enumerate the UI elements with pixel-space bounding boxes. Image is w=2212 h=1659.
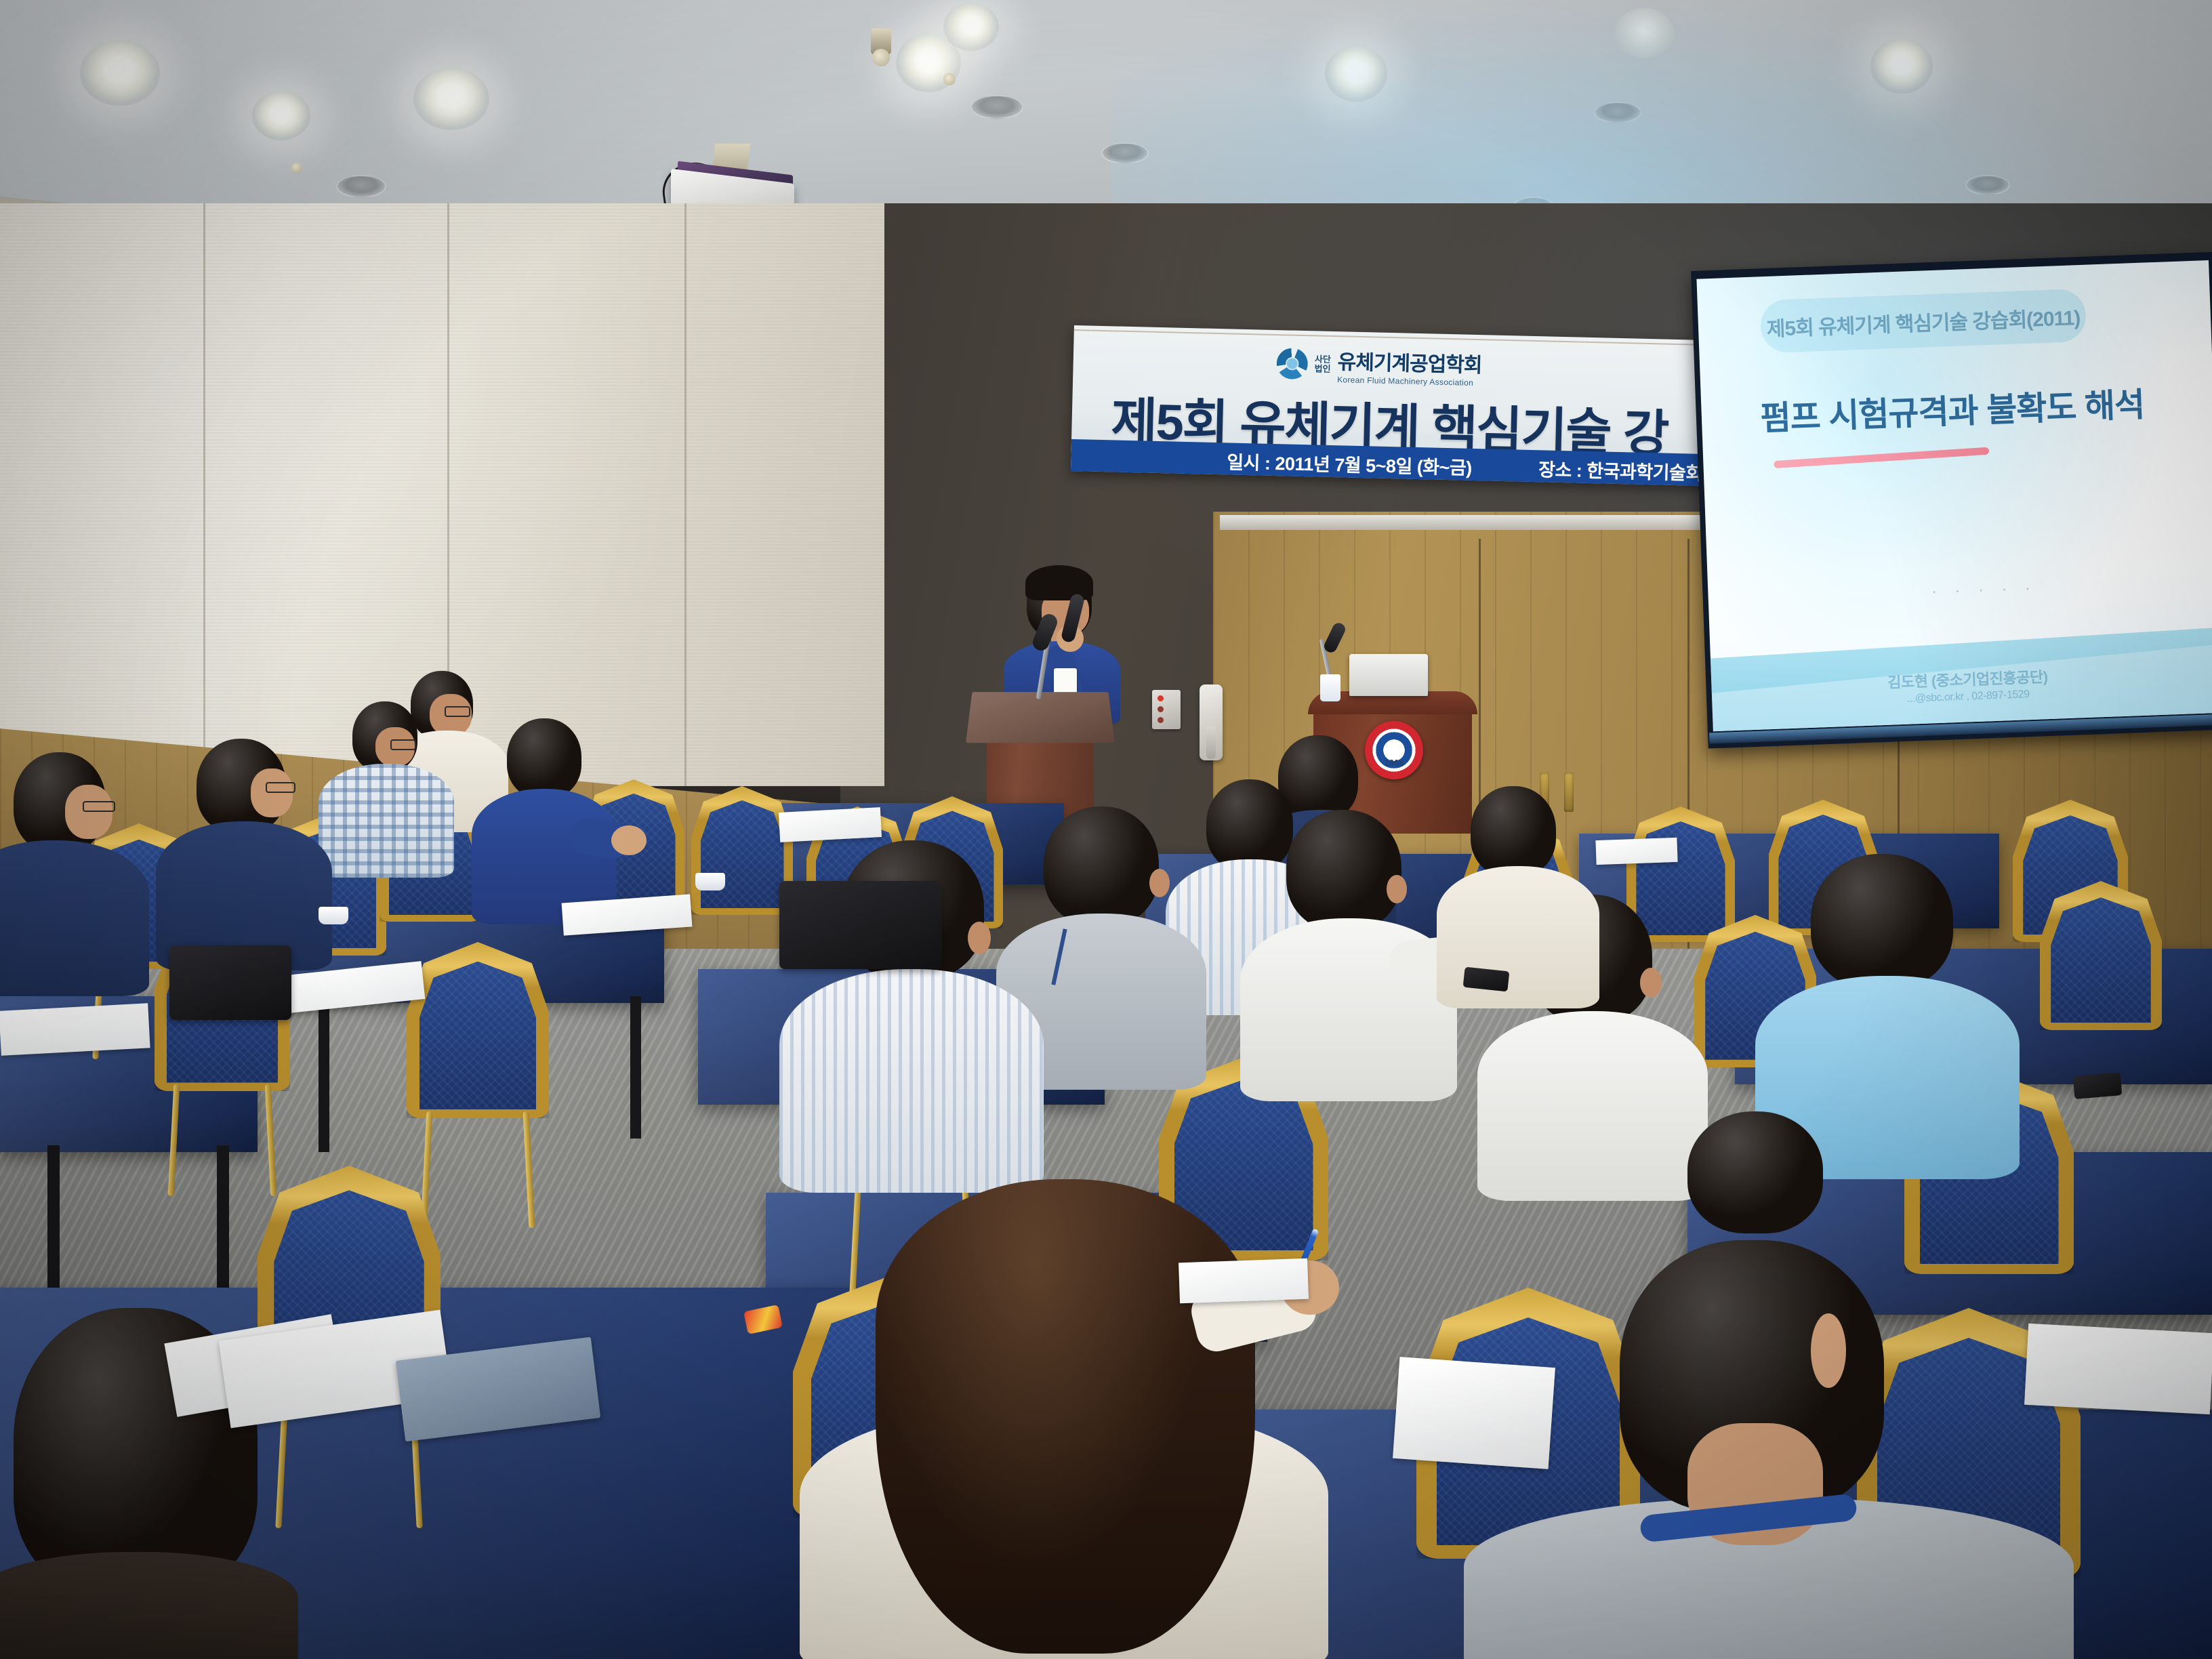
attendee-ear [1149, 869, 1170, 897]
sprinkler-head [291, 163, 302, 173]
slide-dots-text: . . . . . [1931, 573, 2037, 598]
paper-cup [1320, 674, 1340, 701]
attendee-ear [1640, 968, 1662, 998]
downlight-on [252, 91, 310, 140]
table-leg [630, 996, 641, 1139]
projection-screen-frame: 제5회 유체기계 핵심기술 강습회(2011) 펌프 시험규격과 불확도 해석 … [1691, 252, 2212, 749]
slide-header-text: 제5회 유체기계 핵심기술 강습회(2011) [1760, 301, 2086, 343]
paper-cup [319, 907, 348, 924]
attendee-head [1687, 1111, 1823, 1233]
handout-paper [1393, 1357, 1555, 1469]
attendee-torso [779, 969, 1044, 1193]
attendee [0, 752, 169, 989]
downlight-off [336, 175, 386, 198]
downlight-off [1101, 142, 1149, 164]
downlight-on [1870, 39, 1933, 94]
presenter-hair [1025, 565, 1093, 600]
downlight-on [80, 41, 160, 106]
projection-screen: 제5회 유체기계 핵심기술 강습회(2011) 펌프 시험규격과 불확도 해석 … [1696, 260, 2212, 731]
backpack [169, 945, 291, 1020]
association-logo-row: 사단 법인 유체기계공업학회 Korean Fluid Machinery As… [1276, 344, 1482, 388]
downlight-on [1325, 46, 1387, 102]
paper-cup [695, 873, 725, 890]
attendee-torso [0, 1552, 298, 1659]
attendee-head [1811, 854, 1953, 989]
org-legal-prefix: 사단 법인 [1314, 355, 1331, 374]
eyeglasses [83, 801, 115, 812]
attendee-foreground-right [1504, 1274, 2047, 1659]
table-leg [319, 996, 329, 1152]
attendee-ear [1387, 875, 1407, 903]
attendee-ear [968, 922, 991, 954]
downlight-on [943, 3, 999, 51]
sprinkler-head [943, 73, 956, 85]
attendee [176, 739, 359, 962]
banner-date-text: 일시 : 2011년 7월 5~8일 (화~금) [1227, 447, 1472, 480]
attendee-torso [1437, 866, 1599, 1008]
mobile-phone [2073, 1072, 2123, 1099]
attendee-face [65, 785, 112, 839]
handout-paper [2024, 1324, 2212, 1414]
eyeglasses [266, 782, 295, 793]
handout-paper [0, 1003, 150, 1055]
attendee-head [1471, 786, 1556, 877]
long-hair [876, 1179, 1255, 1654]
attendee [468, 718, 637, 922]
attendee-face [251, 769, 293, 817]
podium-top [966, 692, 1115, 743]
org-beopin-text: 법인 [1314, 364, 1330, 373]
attendee-head [507, 718, 581, 798]
downlight-on [413, 68, 489, 130]
downlight-off [1594, 102, 1641, 123]
attendee-torso [0, 840, 149, 996]
downlight-off [1965, 175, 2010, 195]
attendee-hand [611, 825, 647, 855]
downlight-on [1614, 8, 1674, 58]
event-banner: 사단 법인 유체기계공업학회 Korean Fluid Machinery As… [1071, 325, 1793, 488]
org-name-korean: 유체기계공업학회 [1337, 345, 1482, 378]
handout-paper [1179, 1258, 1309, 1304]
attendee-torso [1477, 1011, 1708, 1201]
attendee-foreground-woman [813, 1179, 1315, 1659]
downlight-off [970, 95, 1023, 119]
kfma-logo-icon [1276, 348, 1308, 380]
conference-room-photo: 사단 법인 유체기계공업학회 Korean Fluid Machinery As… [0, 0, 2212, 1659]
laptop-bag [779, 881, 942, 969]
eyeglasses [390, 739, 416, 750]
attendee-ear [1811, 1313, 1846, 1388]
attendee-head [1286, 810, 1401, 930]
banquet-chair[interactable] [691, 786, 793, 915]
handout-paper [779, 807, 882, 842]
handout-paper [1595, 838, 1677, 865]
podium-laptop [1349, 654, 1428, 696]
attendee-head [1044, 806, 1159, 926]
wall-intercom-phone[interactable] [1200, 684, 1223, 760]
banquet-chair[interactable] [2040, 881, 2162, 1030]
light-switch-plate[interactable] [1152, 690, 1181, 729]
banquet-chair[interactable] [407, 942, 549, 1118]
